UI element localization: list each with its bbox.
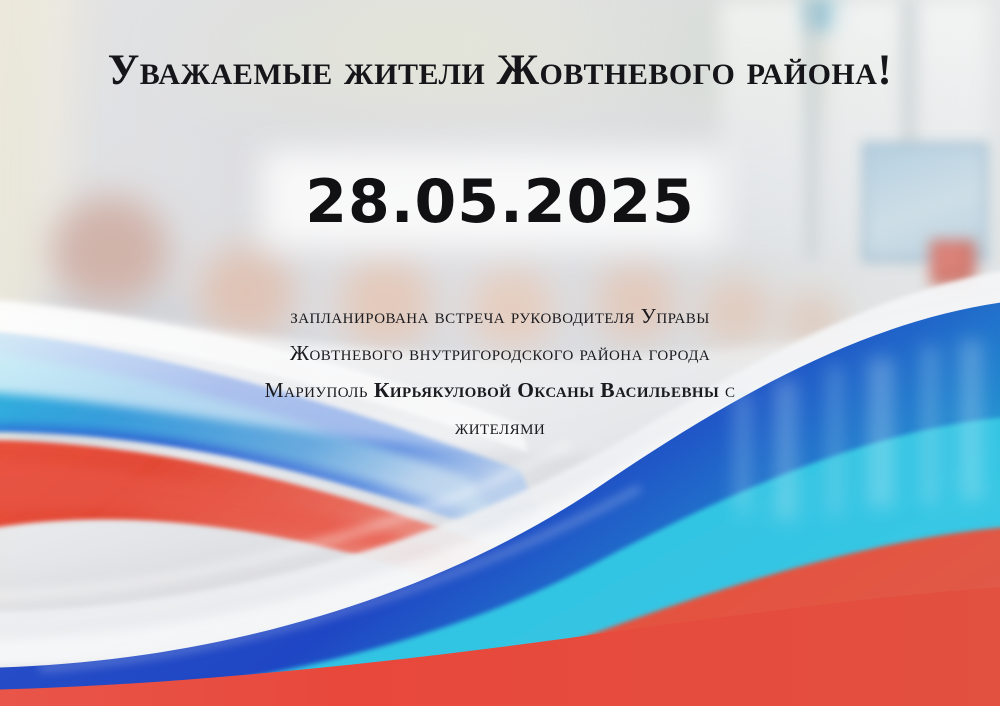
announcement-line-4: жителями (130, 409, 870, 446)
announcement-line-3-suffix: с (719, 378, 735, 402)
announcement-body: запланирована встреча руководителя Управ… (130, 298, 870, 446)
announcement-line-1: запланирована встреча руководителя Управ… (130, 298, 870, 335)
page-title: Уважаемые жители Жовтневого района! (0, 48, 1000, 93)
announcement-line-3: Мариуполь Кирьякуловой Оксаны Васильевны… (130, 372, 870, 409)
announcement-poster: Уважаемые жители Жовтневого района! 28.0… (0, 0, 1000, 706)
event-date: 28.05.2025 (0, 172, 1000, 232)
announcement-line-2: Жовтневого внутригородского района город… (130, 335, 870, 372)
official-name: Кирьякуловой Оксаны Васильевны (374, 378, 719, 402)
announcement-line-3-prefix: Мариуполь (265, 378, 374, 402)
